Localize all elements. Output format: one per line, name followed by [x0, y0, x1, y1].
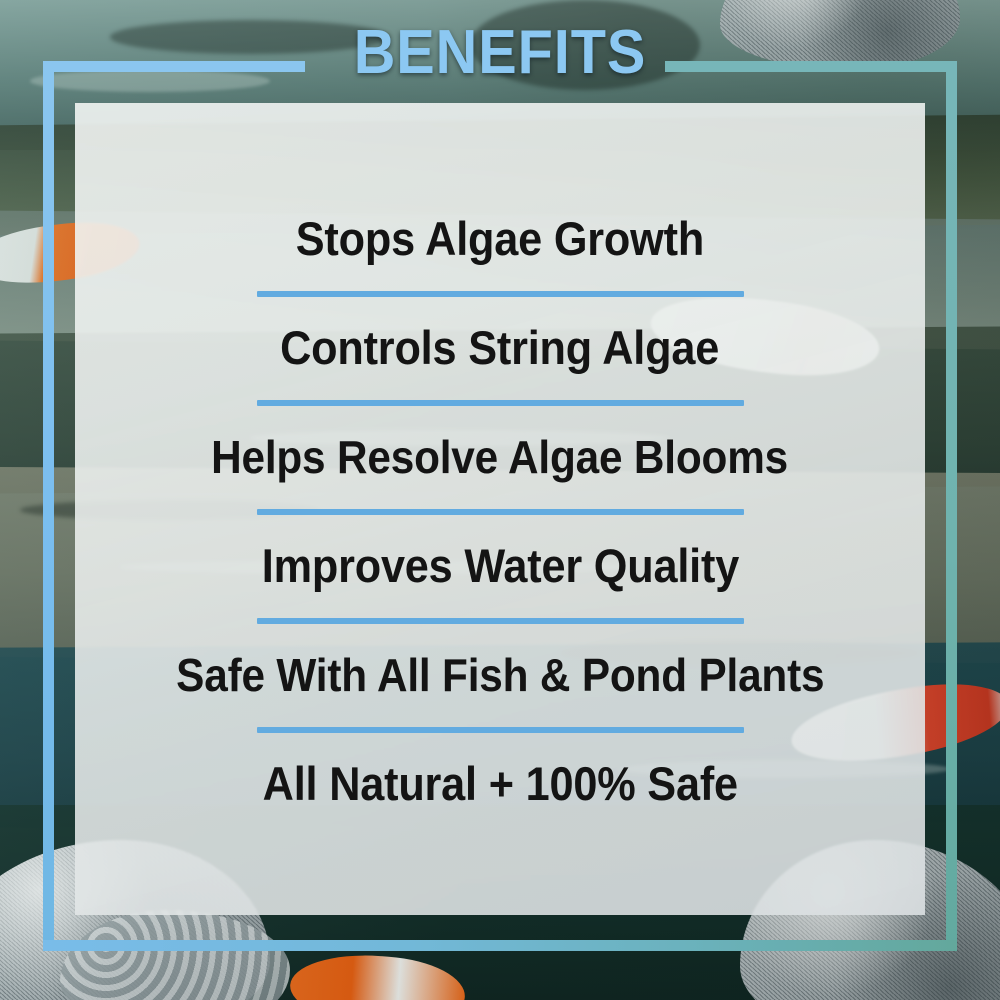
frame-left-segment — [43, 61, 54, 951]
page-title: BENEFITS — [35, 22, 965, 84]
benefit-divider — [257, 400, 744, 406]
benefit-item: Safe With All Fish & Pond Plants — [75, 646, 925, 704]
frame-right-segment — [946, 61, 957, 951]
benefit-label: Improves Water Quality — [261, 537, 738, 595]
benefit-divider — [257, 618, 744, 624]
benefit-label: Stops Algae Growth — [296, 210, 704, 268]
benefit-divider — [257, 509, 744, 515]
benefit-item: Improves Water Quality — [75, 537, 925, 595]
benefit-divider — [257, 727, 744, 733]
benefit-item: All Natural + 100% Safe — [75, 755, 925, 813]
benefit-divider — [257, 291, 744, 297]
benefit-item: Helps Resolve Algae Blooms — [75, 428, 925, 486]
benefit-item: Stops Algae Growth — [75, 210, 925, 268]
frame-bottom-segment — [43, 940, 957, 951]
benefit-label: Helps Resolve Algae Blooms — [212, 428, 789, 486]
benefit-item: Controls String Algae — [75, 319, 925, 377]
benefit-label: Controls String Algae — [281, 319, 720, 377]
benefit-label: Safe With All Fish & Pond Plants — [176, 646, 824, 704]
benefit-label: All Natural + 100% Safe — [262, 755, 737, 813]
benefits-list: Stops Algae Growth Controls String Algae… — [75, 103, 925, 915]
benefits-infographic: BENEFITS Stops Algae Growth Controls Str… — [0, 0, 1000, 1000]
